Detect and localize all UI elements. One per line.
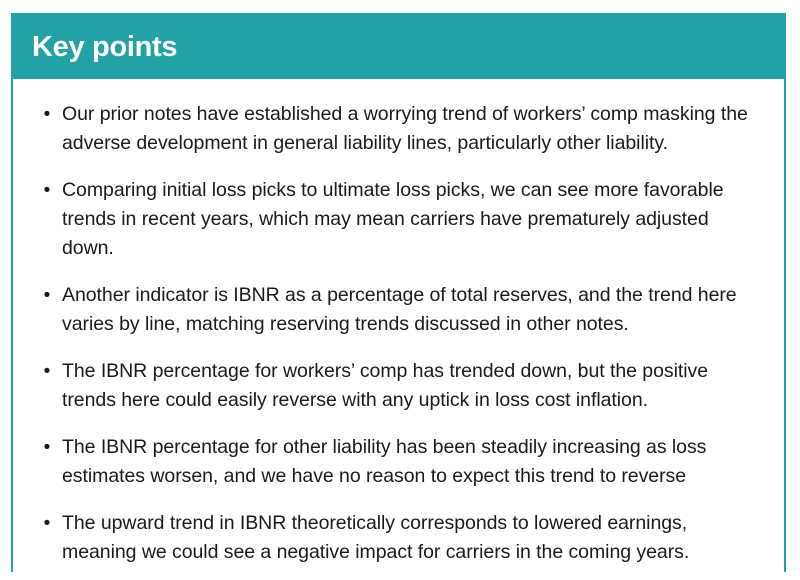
key-points-list: • Our prior notes have established a wor… <box>30 100 768 567</box>
bullet-point-icon: • <box>30 433 62 462</box>
bullet-point-icon: • <box>30 281 62 310</box>
bullet-point-icon: • <box>30 100 62 129</box>
card-header: Key points <box>13 15 784 79</box>
list-item-text: The IBNR percentage for other liability … <box>62 433 768 491</box>
list-item: • Our prior notes have established a wor… <box>30 100 768 158</box>
list-item: • Another indicator is IBNR as a percent… <box>30 281 768 339</box>
list-item-text: Comparing initial loss picks to ultimate… <box>62 176 768 263</box>
bullet-point-icon: • <box>30 509 62 538</box>
list-item-text: Our prior notes have established a worry… <box>62 100 768 158</box>
list-item: • The IBNR percentage for other liabilit… <box>30 433 768 491</box>
list-item: • The IBNR percentage for workers’ comp … <box>30 357 768 415</box>
card-body: • Our prior notes have established a wor… <box>13 79 784 577</box>
bullet-point-icon: • <box>30 357 62 386</box>
list-item: • Comparing initial loss picks to ultima… <box>30 176 768 263</box>
list-item-text: The IBNR percentage for workers’ comp ha… <box>62 357 768 415</box>
key-points-card: Key points • Our prior notes have establ… <box>11 13 786 572</box>
bullet-point-icon: • <box>30 176 62 205</box>
list-item: • The upward trend in IBNR theoretically… <box>30 509 768 567</box>
page-title: Key points <box>32 33 177 62</box>
list-item-text: The upward trend in IBNR theoretically c… <box>62 509 768 567</box>
list-item-text: Another indicator is IBNR as a percentag… <box>62 281 768 339</box>
